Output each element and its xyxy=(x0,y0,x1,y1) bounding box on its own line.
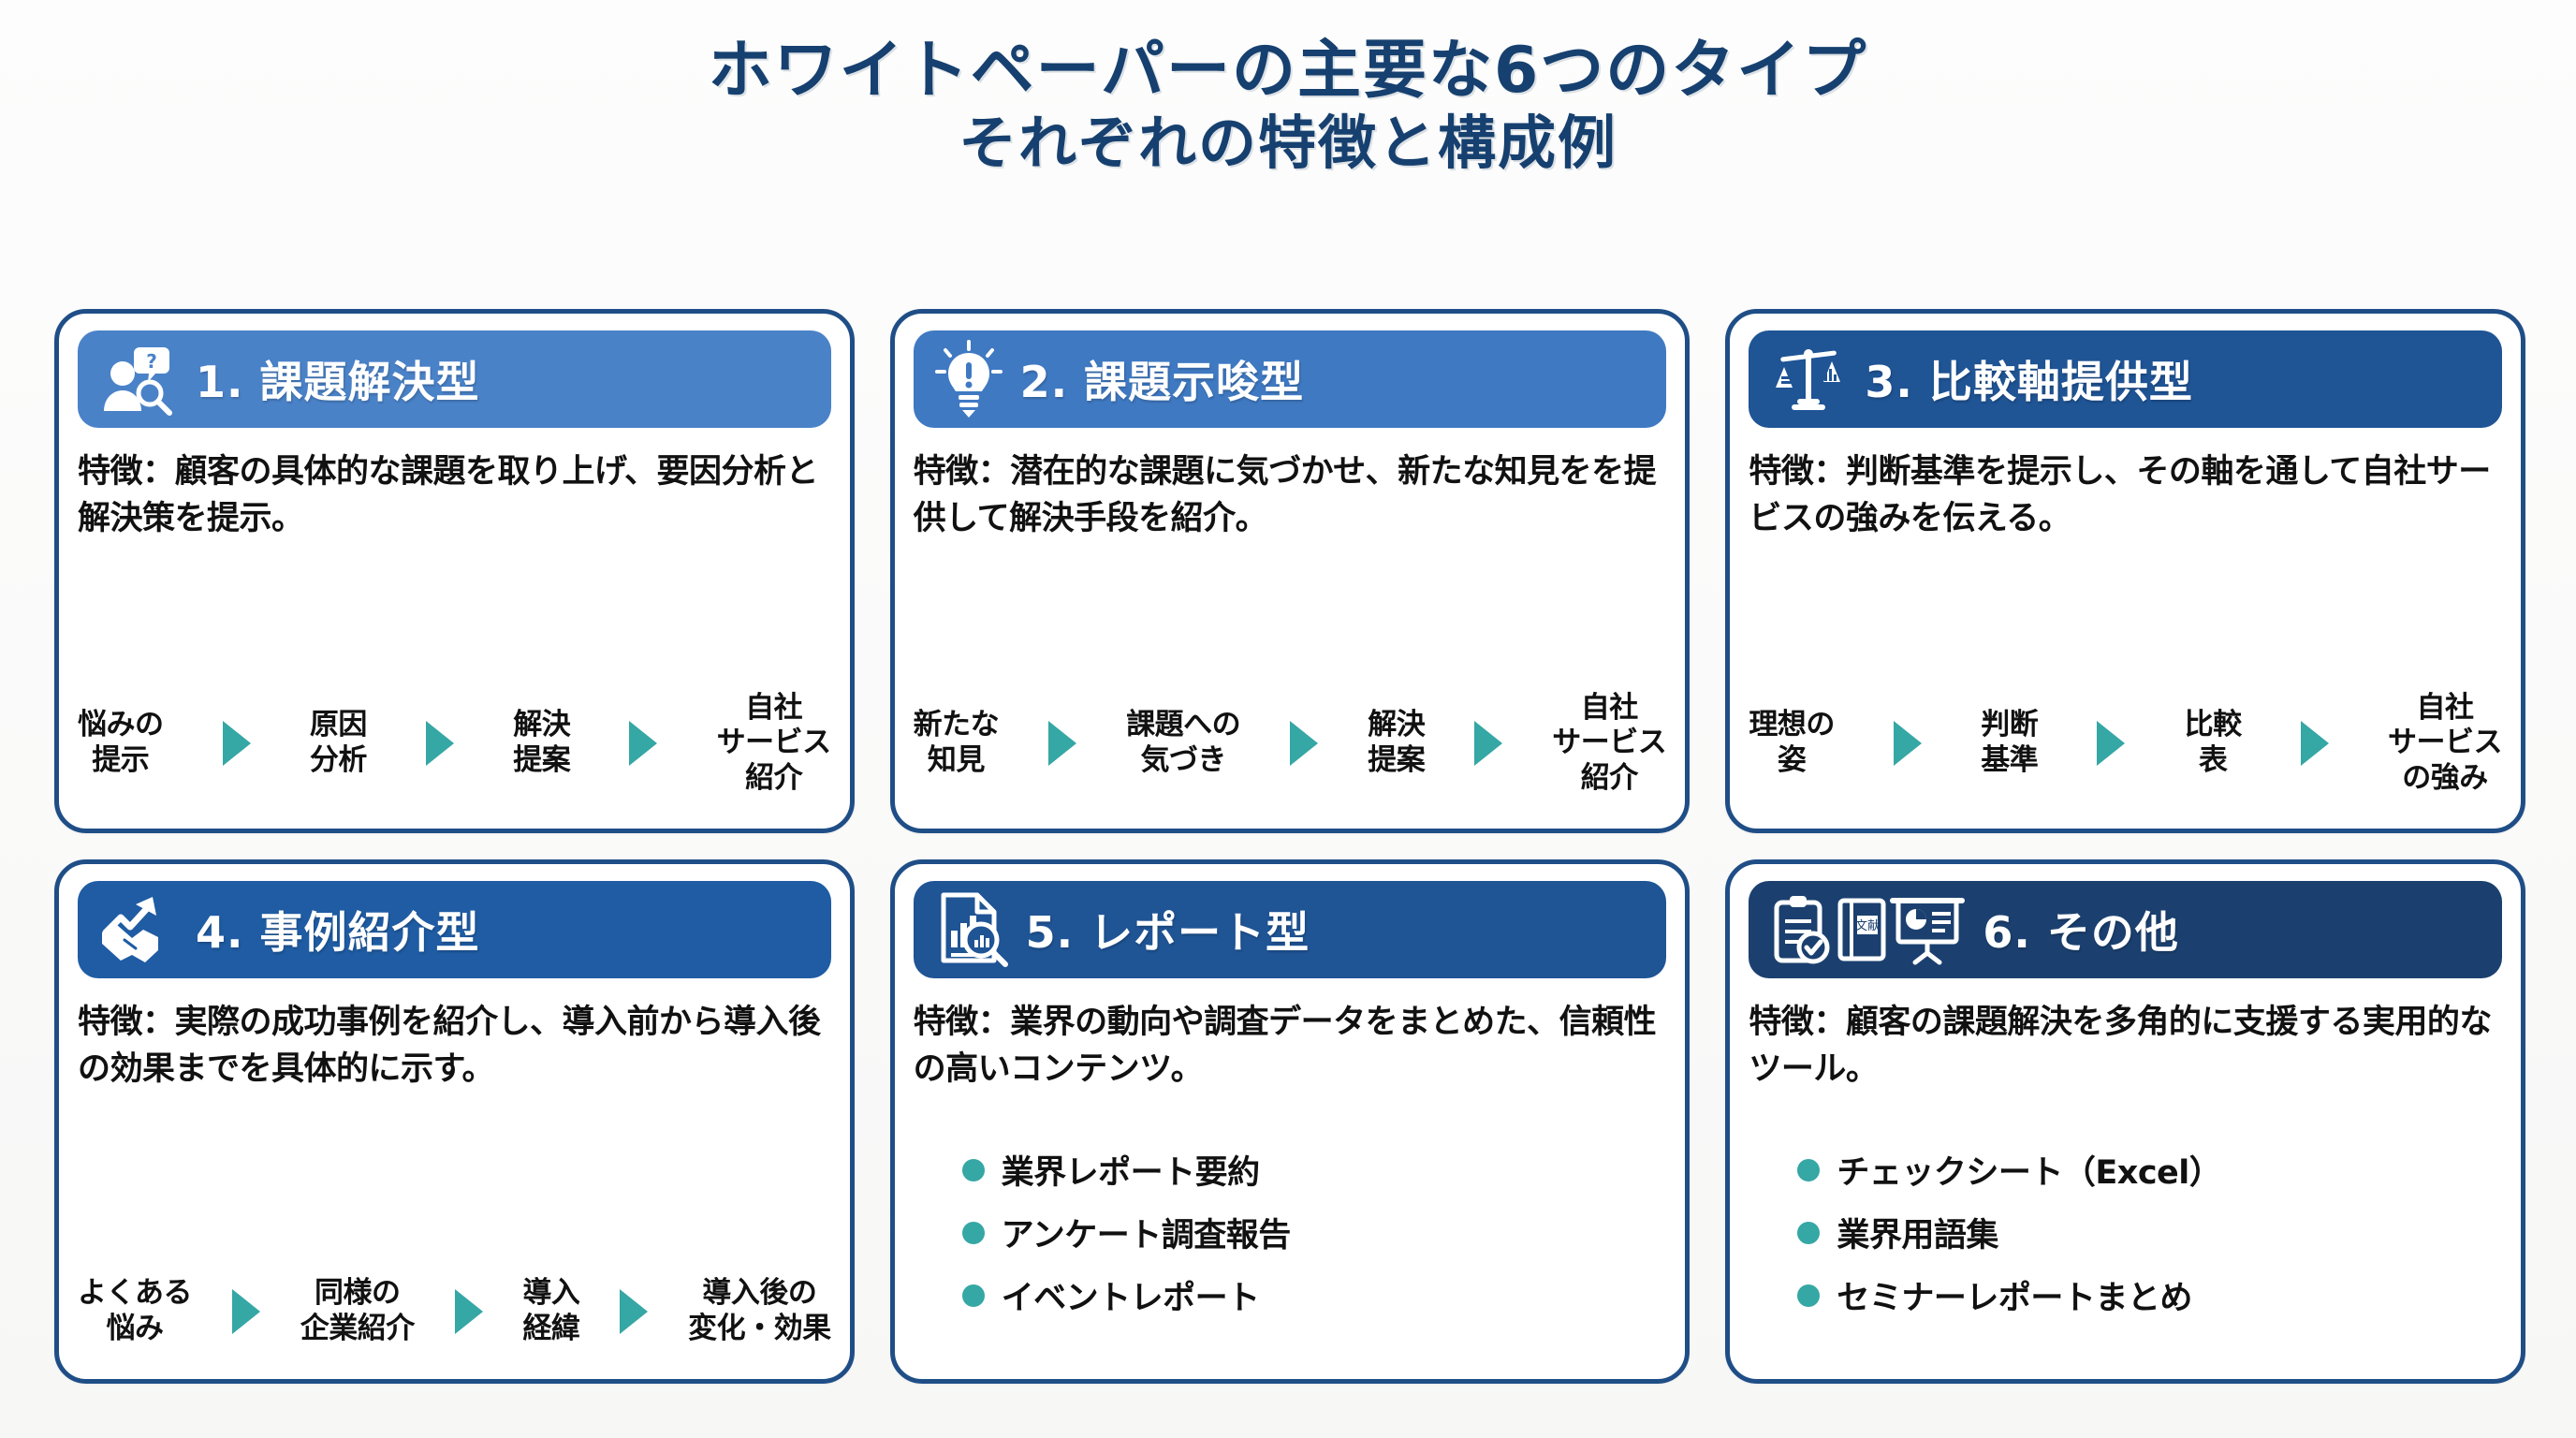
flow-arrow-icon xyxy=(2097,721,2125,766)
card-3-header: 3. 比較軸提供型 xyxy=(1749,330,2502,428)
flow-step: 解決 提案 xyxy=(513,708,570,779)
flow-step: 理想の 姿 xyxy=(1749,708,1835,779)
flow-step: 悩みの 提示 xyxy=(78,708,164,779)
card-1-title: 1. 課題解決型 xyxy=(196,348,480,410)
flow-step: 新たな 知見 xyxy=(914,708,1000,779)
card-3-description: 特徴：判断基準を提示し、その軸を通して自社サービスの強みを伝える。 xyxy=(1749,448,2502,543)
bullet-label: 業界用語集 xyxy=(1837,1209,1998,1256)
handshake-growth-icon xyxy=(98,891,179,968)
document-chart-search-icon xyxy=(934,889,1009,970)
card-4-description: 特徴：実際の成功事例を紹介し、導入前から導入後の効果までを具体的に示す。 xyxy=(78,999,831,1093)
lightbulb-exclamation-icon xyxy=(934,340,1003,418)
card-1-header: ? 1. 課題解決型 xyxy=(78,330,831,428)
flow-arrow-icon xyxy=(620,1289,648,1334)
flow-step: 原因 分析 xyxy=(310,708,367,779)
list-item: アンケート調査報告 xyxy=(962,1209,1667,1256)
card-2-title: 2. 課題示唆型 xyxy=(1020,348,1305,410)
flow-arrow-icon xyxy=(455,1289,483,1334)
clipboard-book-presentation-icon: 文献 xyxy=(1769,891,1966,968)
bullet-dot-icon xyxy=(962,1222,985,1244)
card-3: 3. 比較軸提供型 特徴：判断基準を提示し、その軸を通して自社サービスの強みを伝… xyxy=(1725,309,2525,833)
flow-step: 自社 サービス の強み xyxy=(2388,691,2502,797)
bullet-dot-icon xyxy=(1797,1159,1820,1181)
flow-step: 自社 サービス 紹介 xyxy=(717,691,831,797)
bullet-label: アンケート調査報告 xyxy=(1002,1209,1291,1256)
card-3-flow: 理想の 姿 判断 基準 比較 表 自社 サービス の強み xyxy=(1749,691,2502,814)
list-item: セミナーレポートまとめ xyxy=(1797,1271,2502,1319)
card-6-header: 文献 xyxy=(1749,881,2502,978)
bullet-label: イベントレポート xyxy=(1002,1271,1260,1319)
flow-step: 導入 経緯 xyxy=(522,1276,579,1347)
card-5-title: 5. レポート型 xyxy=(1026,899,1310,961)
bullet-dot-icon xyxy=(962,1159,985,1181)
card-5-description: 特徴：業界の動向や調査データをまとめた、信頼性の高いコンテンツ。 xyxy=(914,999,1667,1093)
flow-arrow-icon xyxy=(426,721,454,766)
card-6-description: 特徴：顧客の課題解決を多角的に支援する実用的なツール。 xyxy=(1749,999,2502,1093)
card-4-header: 4. 事例紹介型 xyxy=(78,881,831,978)
card-2: 2. 課題示唆型 特徴：潜在的な課題に気づかせ、新たな知見をを提供して解決手段を… xyxy=(890,309,1690,833)
list-item: 業界用語集 xyxy=(1797,1209,2502,1256)
flow-arrow-icon xyxy=(629,721,657,766)
card-5-header: 5. レポート型 xyxy=(914,881,1667,978)
card-4: 4. 事例紹介型 特徴：実際の成功事例を紹介し、導入前から導入後の効果までを具体… xyxy=(54,859,855,1384)
flow-step: 課題への 気づき xyxy=(1126,708,1240,779)
card-5-bullets: 業界レポート要約 アンケート調査報告 イベントレポート xyxy=(914,1146,1667,1364)
card-4-title: 4. 事例紹介型 xyxy=(196,899,480,961)
flow-step: 比較 表 xyxy=(2185,708,2242,779)
list-item: イベントレポート xyxy=(962,1271,1667,1319)
bullet-label: セミナーレポートまとめ xyxy=(1837,1271,2192,1319)
flow-arrow-icon xyxy=(1290,721,1318,766)
flow-arrow-icon xyxy=(1474,721,1502,766)
card-6-bullets: チェックシート（Excel） 業界用語集 セミナーレポートまとめ xyxy=(1749,1146,2502,1364)
title-line-2: それぞれの特徴と構成例 xyxy=(0,109,2576,177)
flow-arrow-icon xyxy=(232,1289,260,1334)
bullet-dot-icon xyxy=(1797,1284,1820,1307)
bullet-label: 業界レポート要約 xyxy=(1002,1146,1260,1194)
card-1: ? 1. 課題解決型 特徴：顧客の具体的な課題を取り上げ、要因分析と解決策を提示… xyxy=(54,309,855,833)
card-6-title: 6. その他 xyxy=(1983,899,2179,961)
person-question-search-icon: ? xyxy=(98,342,179,417)
infographic-page: ホワイトペーパーの主要な6つのタイプ それぞれの特徴と構成例 ? 1. 課題解決… xyxy=(0,0,2576,1438)
card-grid: ? 1. 課題解決型 特徴：顧客の具体的な課題を取り上げ、要因分析と解決策を提示… xyxy=(54,309,2525,1384)
page-title: ホワイトペーパーの主要な6つのタイプ それぞれの特徴と構成例 xyxy=(0,0,2576,177)
flow-step: 判断 基準 xyxy=(1981,708,2038,779)
flow-arrow-icon xyxy=(223,721,251,766)
card-3-title: 3. 比較軸提供型 xyxy=(1865,348,2193,410)
card-5: 5. レポート型 特徴：業界の動向や調査データをまとめた、信頼性の高いコンテンツ… xyxy=(890,859,1690,1384)
flow-step: 自社 サービス 紹介 xyxy=(1552,691,1666,797)
card-1-flow: 悩みの 提示 原因 分析 解決 提案 自社 サービス 紹介 xyxy=(78,691,831,814)
card-2-description: 特徴：潜在的な課題に気づかせ、新たな知見をを提供して解決手段を紹介。 xyxy=(914,448,1667,543)
card-2-flow: 新たな 知見 課題への 気づき 解決 提案 自社 サービス 紹介 xyxy=(914,691,1667,814)
flow-step: 同様の 企業紹介 xyxy=(300,1276,415,1347)
flow-arrow-icon xyxy=(2301,721,2329,766)
title-line-1: ホワイトペーパーの主要な6つのタイプ xyxy=(0,34,2576,109)
balance-scale-icon xyxy=(1769,341,1848,418)
list-item: チェックシート（Excel） xyxy=(1797,1146,2502,1194)
svg-text:文献: 文献 xyxy=(1855,919,1880,933)
card-2-header: 2. 課題示唆型 xyxy=(914,330,1667,428)
bullet-dot-icon xyxy=(1797,1222,1820,1244)
flow-step: 解決 提案 xyxy=(1368,708,1425,779)
bullet-label: チェックシート（Excel） xyxy=(1837,1146,2221,1194)
flow-arrow-icon xyxy=(1048,721,1076,766)
flow-step: 導入後の 変化・効果 xyxy=(688,1276,831,1347)
flow-arrow-icon xyxy=(1894,721,1922,766)
card-1-description: 特徴：顧客の具体的な課題を取り上げ、要因分析と解決策を提示。 xyxy=(78,448,831,543)
list-item: 業界レポート要約 xyxy=(962,1146,1667,1194)
svg-text:?: ? xyxy=(146,350,157,373)
flow-step: よくある 悩み xyxy=(78,1276,192,1347)
bullet-dot-icon xyxy=(962,1284,985,1307)
card-6: 文献 xyxy=(1725,859,2525,1384)
card-4-flow: よくある 悩み 同様の 企業紹介 導入 経緯 導入後の 変化・効果 xyxy=(78,1276,831,1364)
